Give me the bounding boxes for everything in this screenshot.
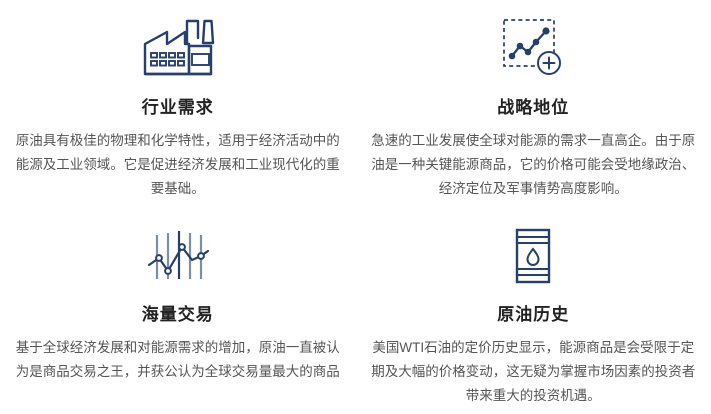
growth-chart-add-icon — [499, 6, 567, 78]
feature-body: 急速的工业发展使全球对能源的需求一直高企。由于原油是一种关键能源商品，它的价格可… — [368, 129, 698, 200]
feature-title: 行业需求 — [142, 98, 214, 118]
feature-body: 原油具有极佳的物理和化学特性，适用于经济活动中的能源及工业领域。它是促进经济发展… — [13, 129, 343, 200]
feature-card-industry-demand: 行业需求 原油具有极佳的物理和化学特性，适用于经济活动中的能源及工业领域。它是促… — [0, 0, 356, 207]
feature-title: 原油历史 — [497, 305, 569, 325]
feature-card-trading-volume: 海量交易 基于全球经济发展和对能源需求的增加，原油一直被认为是商品交易之王，并获… — [0, 207, 356, 414]
feature-card-oil-history: 原油历史 美国WTI石油的定价历史显示，能源商品是会受限于定期及大幅的价格变动，… — [356, 207, 711, 414]
feature-title: 战略地位 — [497, 98, 569, 118]
feature-title: 海量交易 — [142, 305, 214, 325]
trading-volume-chart-icon — [146, 213, 210, 285]
feature-grid: 行业需求 原油具有极佳的物理和化学特性，适用于经济活动中的能源及工业领域。它是促… — [0, 0, 711, 414]
feature-body: 基于全球经济发展和对能源需求的增加，原油一直被认为是商品交易之王，并获公认为全球… — [13, 336, 343, 383]
factory-icon — [141, 6, 215, 78]
feature-body: 美国WTI石油的定价历史显示，能源商品是会受限于定期及大幅的价格变动，这无疑为掌… — [368, 336, 698, 407]
oil-barrel-icon — [510, 213, 556, 285]
feature-card-strategic-position: 战略地位 急速的工业发展使全球对能源的需求一直高企。由于原油是一种关键能源商品，… — [356, 0, 711, 207]
